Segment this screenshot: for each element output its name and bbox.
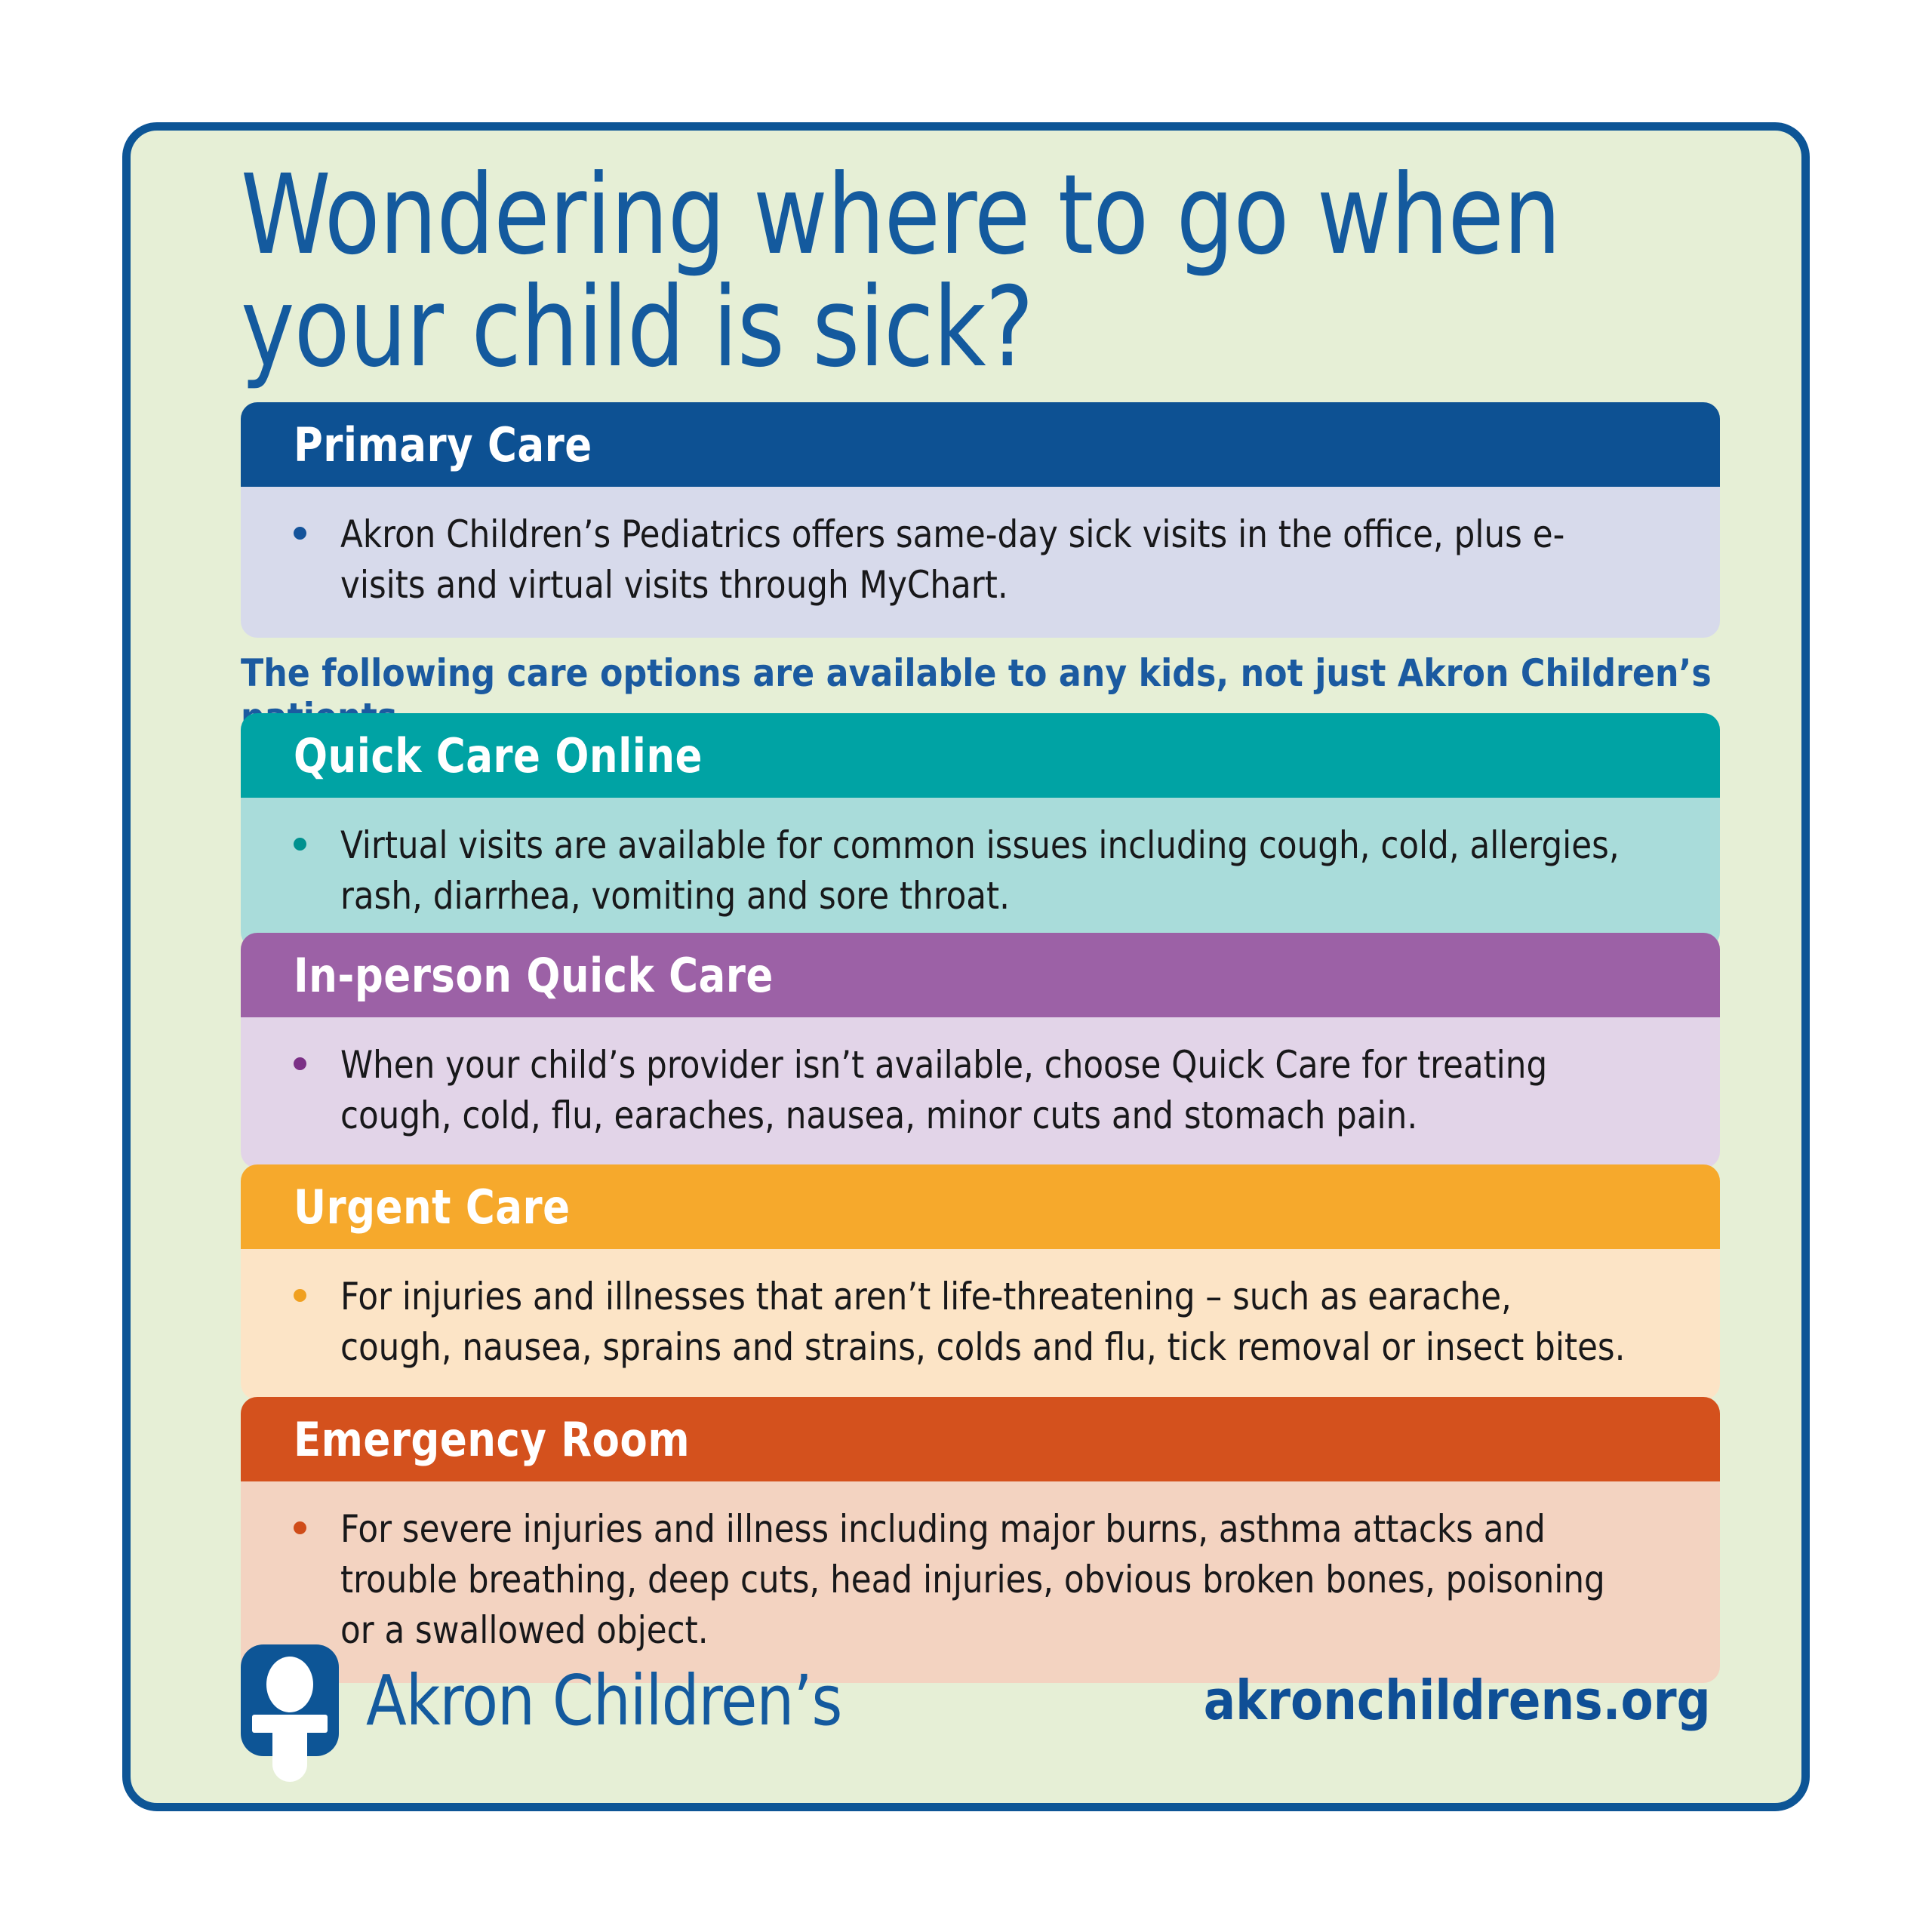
footer: Akron Children’s akronchildrens.org (241, 1636, 1711, 1764)
section-card-quick-care-online: Quick Care Online Virtual visits are ava… (241, 713, 1720, 949)
bullet-marker (294, 1272, 340, 1373)
brand-logo: Akron Children’s (241, 1644, 867, 1756)
section-bullet-text: Akron Children’s Pediatrics offers same-… (340, 509, 1630, 611)
section-body-in-person-quick-care: When your child’s provider isn’t availab… (241, 1017, 1720, 1168)
logo-arms-shape (252, 1715, 328, 1733)
bullet-dot-icon (294, 1057, 306, 1070)
section-header-emergency-room: Emergency Room (241, 1397, 1720, 1481)
section-card-urgent-care: Urgent Care For injuries and illnesses t… (241, 1164, 1720, 1400)
website-url[interactable]: akronchildrens.org (1204, 1669, 1711, 1732)
section-title: In-person Quick Care (294, 948, 774, 1003)
logo-body-shape (272, 1727, 307, 1782)
bullet-dot-icon (294, 838, 306, 851)
section-header-primary-care: Primary Care (241, 402, 1720, 487)
section-bullet-text: Virtual visits are available for common … (340, 820, 1630, 921)
section-header-in-person-quick-care: In-person Quick Care (241, 933, 1720, 1017)
section-body-urgent-care: For injuries and illnesses that aren’t l… (241, 1249, 1720, 1400)
section-title: Primary Care (294, 417, 592, 472)
bullet-dot-icon (294, 527, 306, 540)
bullet-dot-icon (294, 1289, 306, 1302)
poster-frame: Wondering where to go when your child is… (122, 122, 1810, 1811)
section-title: Quick Care Online (294, 728, 703, 783)
section-bullet-text: For injuries and illnesses that aren’t l… (340, 1272, 1630, 1373)
bullet-marker (294, 820, 340, 921)
page-title: Wondering where to go when your child is… (241, 159, 1601, 384)
bullet-dot-icon (294, 1521, 306, 1534)
section-body-quick-care-online: Virtual visits are available for common … (241, 798, 1720, 949)
bullet-marker (294, 1504, 340, 1656)
logo-head-shape (266, 1657, 313, 1712)
bullet-marker (294, 509, 340, 611)
section-bullet-text: When your child’s provider isn’t availab… (340, 1040, 1630, 1141)
section-bullet-text: For severe injuries and illness includin… (340, 1504, 1630, 1656)
section-header-quick-care-online: Quick Care Online (241, 713, 1720, 798)
section-title: Urgent Care (294, 1180, 571, 1235)
section-title: Emergency Room (294, 1412, 690, 1467)
poster-content: Wondering where to go when your child is… (131, 131, 1801, 1803)
akron-childrens-child-figure-icon (241, 1644, 339, 1756)
bullet-marker (294, 1040, 340, 1141)
section-card-in-person-quick-care: In-person Quick Care When your child’s p… (241, 933, 1720, 1168)
section-card-primary-care: Primary Care Akron Children’s Pediatrics… (241, 402, 1720, 638)
brand-wordmark: Akron Children’s (366, 1660, 841, 1741)
section-header-urgent-care: Urgent Care (241, 1164, 1720, 1249)
section-body-primary-care: Akron Children’s Pediatrics offers same-… (241, 487, 1720, 638)
